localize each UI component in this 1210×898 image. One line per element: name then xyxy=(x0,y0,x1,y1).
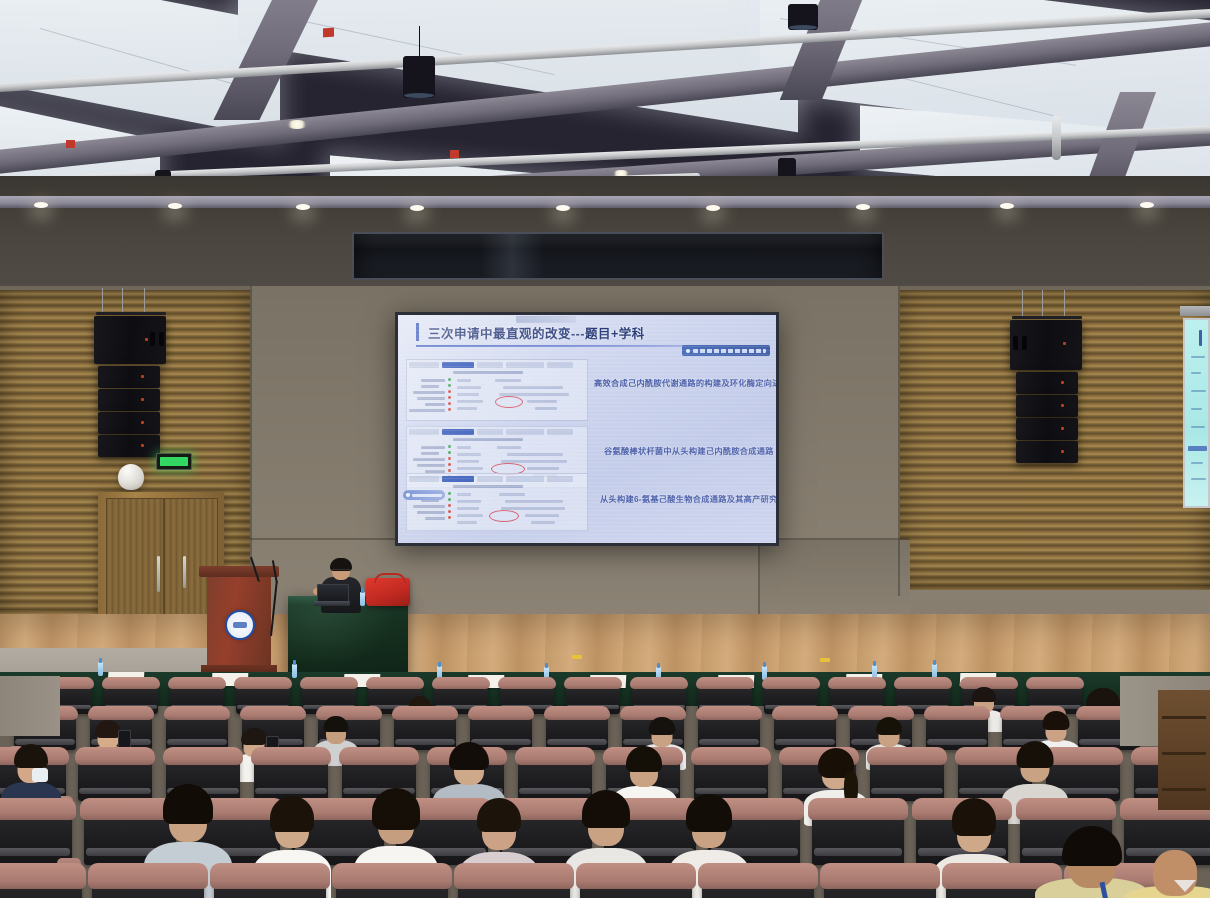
speaker-module xyxy=(1016,372,1078,394)
speaker-module xyxy=(98,412,160,434)
speaker-cluster-left xyxy=(92,288,170,460)
speaker-module xyxy=(1016,418,1078,440)
rear-cabinet xyxy=(1158,690,1210,810)
slide-title-prefix: 三次申请中最直观的改变--- xyxy=(428,327,585,341)
glasses-icon xyxy=(332,569,350,574)
slide-content: 三次申请中最直观的改变---题目+学科 xyxy=(398,315,776,543)
seat[interactable] xyxy=(92,870,204,898)
seat[interactable] xyxy=(214,870,326,898)
seat[interactable] xyxy=(0,870,82,898)
speaker-module xyxy=(1016,395,1078,417)
speaker-module xyxy=(1016,441,1078,463)
seat[interactable] xyxy=(824,870,936,898)
water-bottle xyxy=(360,592,365,606)
presenter-laptop xyxy=(314,584,350,608)
seat[interactable] xyxy=(458,870,570,898)
project-title-2: 谷氨酸棒状杆菌中从头构建己内酰胺合成通路 xyxy=(604,445,774,457)
door-handle-right[interactable] xyxy=(183,556,186,588)
annotation-circle xyxy=(495,396,523,408)
speaker-module xyxy=(98,389,160,411)
form-screenshot-1 xyxy=(406,359,588,421)
pendant-speaker xyxy=(403,56,435,98)
seat[interactable] xyxy=(580,870,692,898)
badge-dot-icon xyxy=(686,349,690,353)
podium-emblem xyxy=(225,610,255,640)
seat[interactable] xyxy=(702,870,814,898)
speaker-cluster-right xyxy=(1008,290,1086,462)
monitor-mount xyxy=(1180,306,1210,316)
annotation-circle xyxy=(489,510,519,522)
attendee xyxy=(1120,838,1210,898)
lecture-hall-scene: 三次申请中最直观的改变---题目+学科 xyxy=(0,0,1210,898)
scroll-indicator-icon xyxy=(1174,880,1196,892)
stage-banner-display xyxy=(352,232,884,280)
project-title-1: 高效合成己内酰胺代谢通路的构建及环化酶定向进化研究 xyxy=(594,377,776,389)
podium xyxy=(203,566,275,678)
help-pill-button[interactable] xyxy=(403,490,445,500)
help-icon xyxy=(406,493,410,497)
face-mask xyxy=(32,768,48,782)
red-bag xyxy=(366,578,410,606)
seat[interactable] xyxy=(336,870,448,898)
speaker-module xyxy=(98,435,160,457)
door-handle-left[interactable] xyxy=(157,556,160,592)
pendant-speaker xyxy=(788,4,818,30)
exit-sign xyxy=(156,453,192,470)
speaker-module xyxy=(98,366,160,388)
title-accent-bar xyxy=(416,323,419,341)
ceiling xyxy=(0,0,1210,200)
projection-screen: 三次申请中最直观的改变---题目+学科 xyxy=(395,312,779,546)
water-bottle xyxy=(98,662,103,676)
form-screenshot-3 xyxy=(406,473,588,531)
title-chip xyxy=(516,316,576,323)
audience-area xyxy=(0,676,1210,898)
wall-sconce xyxy=(118,464,144,490)
project-title-3: 从头构建6-氨基己酸生物合成通路及其高产研究 xyxy=(600,493,776,505)
wall-panel-center-right xyxy=(760,540,910,620)
slide-title-accent: 题目+学科 xyxy=(585,327,645,341)
slide-title: 三次申请中最直观的改变---题目+学科 xyxy=(428,323,766,342)
side-monitor xyxy=(1183,318,1210,508)
system-watermark-badge xyxy=(682,345,770,356)
side-wall-left xyxy=(0,676,60,736)
